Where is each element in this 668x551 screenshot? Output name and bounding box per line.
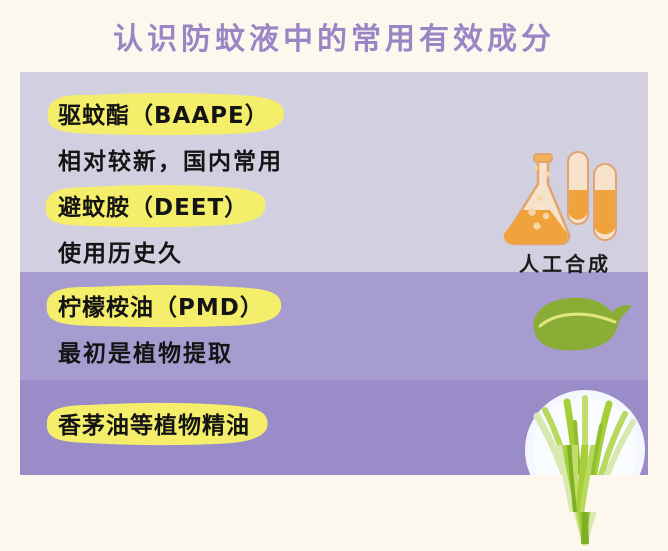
entry-pmd-subtitle: 最初是植物提取 (58, 334, 286, 368)
entry-deet: 避蚊胺（DEET） 使用历史久 (38, 184, 270, 268)
flask-and-test-tubes-icon (490, 150, 640, 246)
entry-baape-title: 驱蚊酯（BAAPE） (58, 103, 269, 129)
illustration-grass-overflow (515, 445, 635, 512)
entry-pmd-title-wrap: 柠檬桉油（PMD） (38, 284, 286, 328)
entry-oil-title-wrap: 香茅油等植物精油 (38, 402, 272, 446)
entry-oil-title: 香茅油等植物精油 (58, 413, 250, 439)
entry-deet-subtitle: 使用历史久 (58, 234, 270, 268)
entry-oil: 香茅油等植物精油 (38, 402, 272, 446)
citronella-grass-tips-icon (515, 445, 635, 512)
page-header: 认识防蚊液中的常用有效成分 (0, 0, 668, 72)
entry-baape-title-wrap: 驱蚊酯（BAAPE） (38, 92, 291, 136)
illustration-synthetic: 人工合成 (490, 150, 640, 270)
entry-pmd: 柠檬桉油（PMD） 最初是植物提取 (38, 284, 286, 368)
eucalyptus-leaf-icon (520, 284, 640, 366)
entry-pmd-title: 柠檬桉油（PMD） (58, 295, 264, 321)
illustration-synthetic-caption: 人工合成 (490, 248, 640, 277)
content-panel: 驱蚊酯（BAAPE） 相对较新，国内常用 避蚊胺（DEET） 使用历史久 柠檬桉… (20, 72, 648, 475)
entry-baape: 驱蚊酯（BAAPE） 相对较新，国内常用 (38, 92, 291, 176)
page-title: 认识防蚊液中的常用有效成分 (113, 14, 555, 58)
illustration-leaf (520, 284, 640, 366)
entry-deet-title-wrap: 避蚊胺（DEET） (38, 184, 270, 228)
entry-baape-subtitle: 相对较新，国内常用 (58, 142, 291, 176)
entry-deet-title: 避蚊胺（DEET） (58, 195, 248, 221)
